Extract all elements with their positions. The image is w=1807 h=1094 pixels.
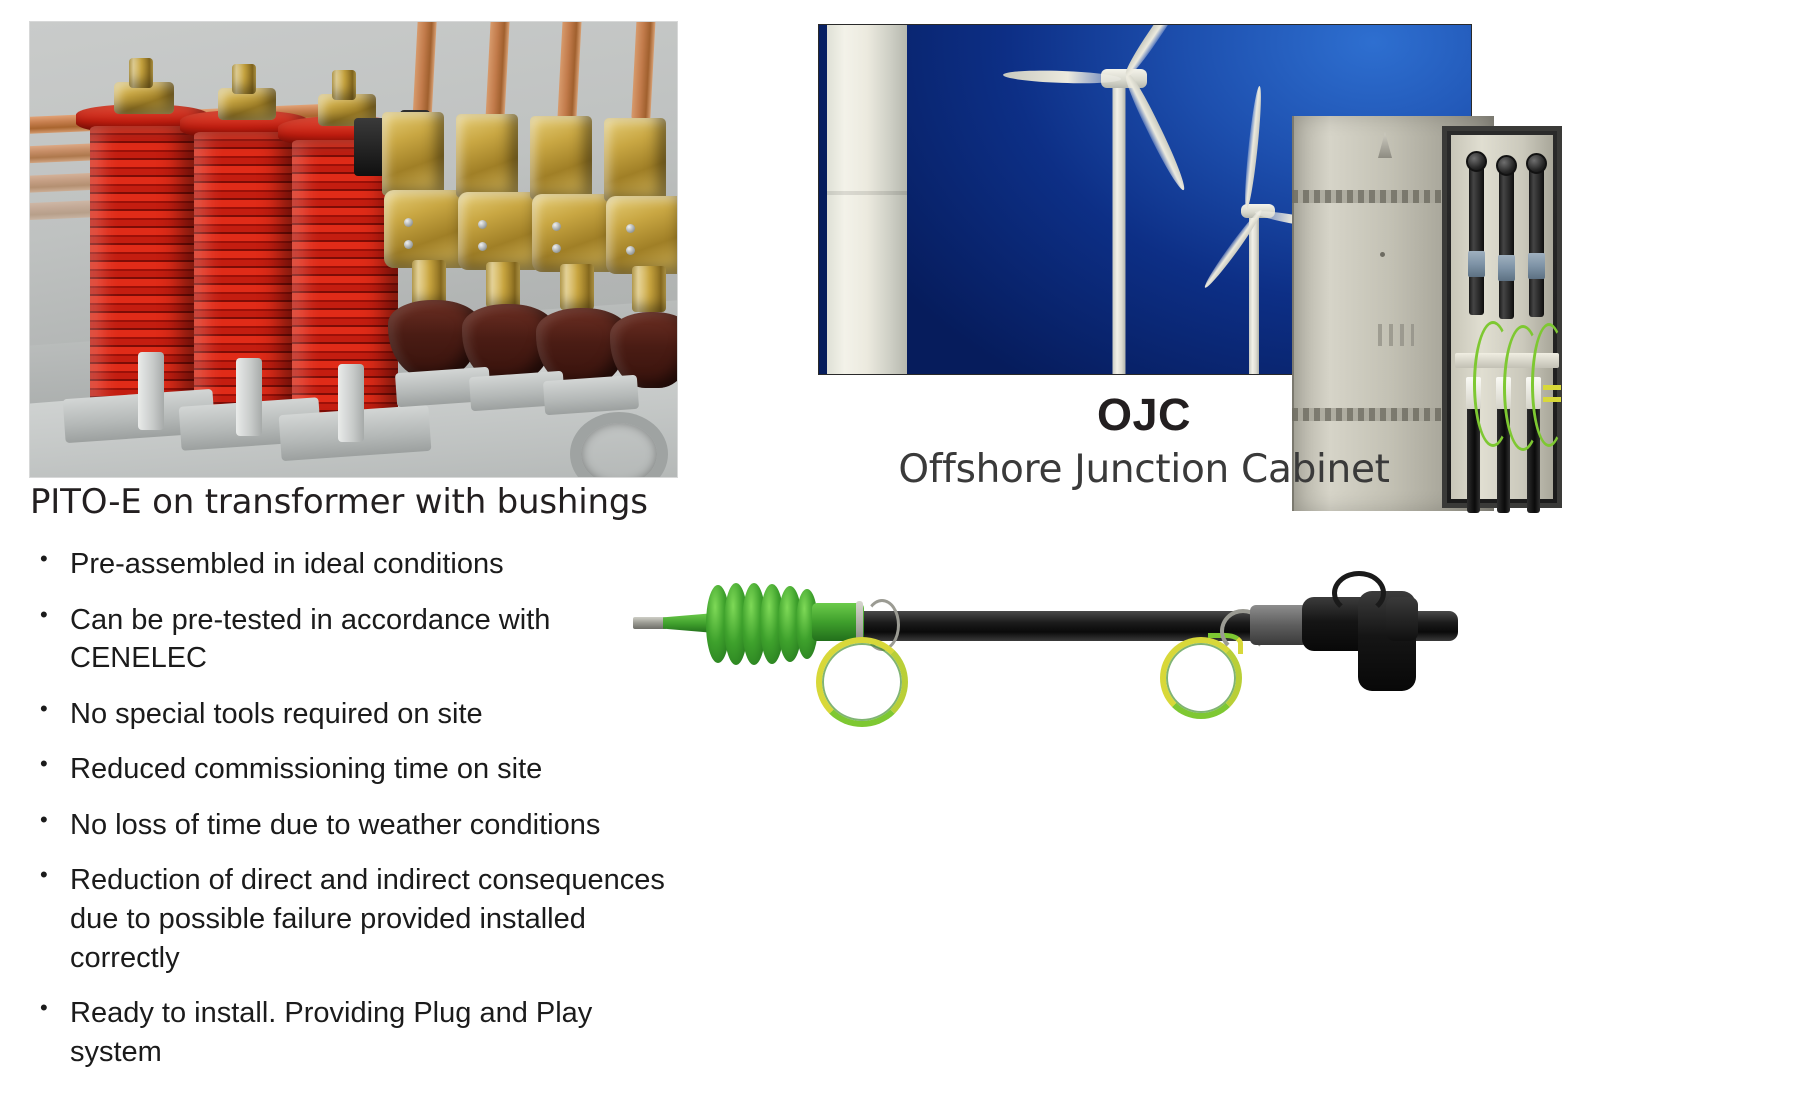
copper-busbar-vertical — [485, 22, 510, 126]
cabinet-vent — [1378, 324, 1414, 346]
bolt-head — [478, 242, 487, 251]
stress-control-sleeve — [1250, 605, 1308, 645]
brass-connector-block — [604, 118, 666, 202]
ojc-title: OJC — [818, 389, 1470, 441]
white-support-post — [236, 358, 262, 436]
list-item: Pre-assembled in ideal conditions — [34, 545, 684, 584]
turbine-mast — [1113, 85, 1126, 375]
list-item: Ready to install. Providing Plug and Pla… — [34, 994, 684, 1071]
brass-stud — [129, 58, 153, 88]
turbine-blade — [1242, 86, 1264, 210]
bolt-head — [404, 218, 413, 227]
list-item: No special tools required on site — [34, 695, 684, 734]
mounting-flange — [543, 375, 639, 415]
pull-ring — [1332, 571, 1386, 615]
cable-termination — [1469, 165, 1484, 315]
bolt-head — [404, 240, 413, 249]
earth-wire-loop — [816, 637, 908, 727]
earth-cable — [1543, 385, 1561, 390]
brass-connector-shaft — [560, 264, 594, 310]
white-support-post — [338, 364, 364, 442]
transformer-photo — [30, 22, 677, 477]
cabinet-screw — [1380, 252, 1385, 257]
cabinet-lifting-lug — [1378, 132, 1392, 158]
earth-cable — [1543, 397, 1561, 402]
bolt-head — [626, 224, 635, 233]
brass-connector-block — [530, 116, 592, 200]
termination-stress-cone — [1528, 253, 1545, 279]
benefits-bullet-list: Pre-assembled in ideal conditions Can be… — [34, 545, 684, 1088]
termination-connector-head — [1496, 155, 1517, 176]
tower-seam — [827, 191, 907, 195]
elbow-connector-cap — [1386, 597, 1418, 641]
list-item: Reduction of direct and indirect consequ… — [34, 861, 684, 977]
cabinet-interior — [1451, 135, 1553, 499]
bolt-head — [478, 220, 487, 229]
brass-stud — [232, 64, 256, 94]
plug-and-play-cable-photo — [620, 575, 1800, 735]
contact-pin — [633, 617, 667, 629]
wind-turbine-tower-foreground — [827, 24, 907, 375]
termination-connector-head — [1526, 153, 1547, 174]
pito-caption-text: PITO-E on transformer with bushings — [30, 482, 648, 522]
termination-connector-head — [1466, 151, 1487, 172]
brass-stud — [332, 70, 356, 100]
list-item: Reduced commissioning time on site — [34, 750, 684, 789]
pito-caption: PITO-E on transformer with bushings — [30, 482, 648, 522]
cable-termination — [1529, 167, 1544, 317]
cable-termination — [1499, 169, 1514, 319]
turbine-blade — [1122, 24, 1193, 78]
brass-connector-block — [456, 114, 518, 198]
termination-stress-cone — [1468, 251, 1485, 277]
bolt-head — [552, 244, 561, 253]
copper-busbar-vertical — [557, 22, 582, 124]
brass-connector-body — [606, 196, 677, 274]
copper-busbar-vertical — [631, 22, 655, 120]
white-support-post — [138, 352, 164, 430]
brass-connector-shaft — [486, 262, 520, 308]
ojc-subtitle: Offshore Junction Cabinet — [788, 447, 1500, 492]
bolt-head — [626, 246, 635, 255]
bolt-head — [552, 222, 561, 231]
termination-stress-cone — [1498, 255, 1515, 281]
brass-connector-shaft — [632, 266, 666, 312]
turbine-mast — [1249, 215, 1259, 375]
brass-connector-block — [382, 112, 444, 196]
list-item: No loss of time due to weather condition… — [34, 806, 684, 845]
list-item: Can be pre-tested in accordance with CEN… — [34, 601, 684, 678]
